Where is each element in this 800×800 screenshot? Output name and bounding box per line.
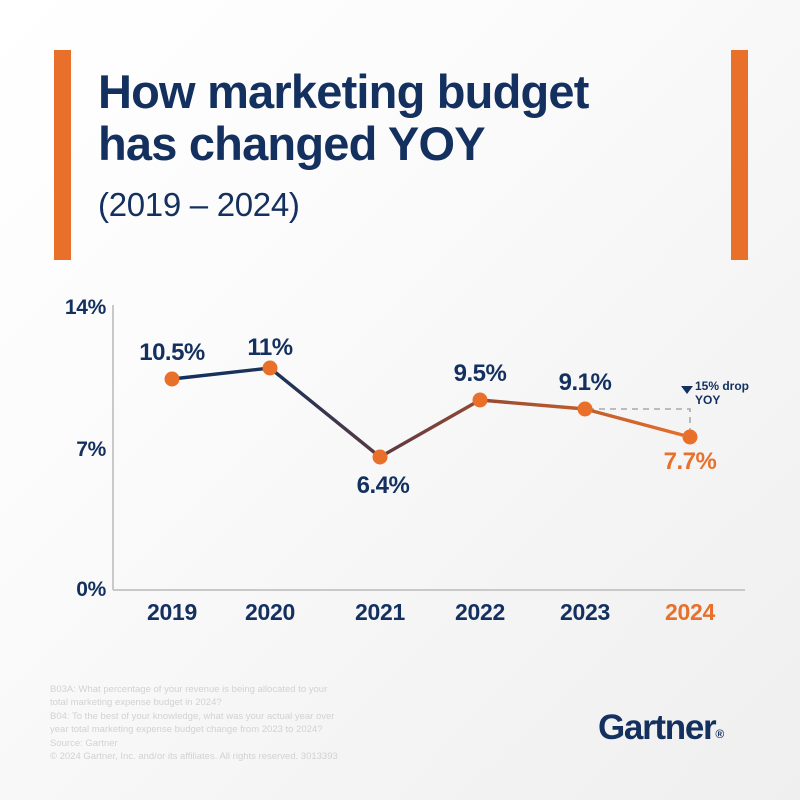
gartner-logo-text: Gartner xyxy=(598,708,715,747)
value-label-2021: 6.4% xyxy=(308,472,458,500)
data-point-2023 xyxy=(578,402,593,417)
footnotes: B03A: What percentage of your revenue is… xyxy=(50,683,380,764)
infographic-canvas: How marketing budget has changed YOY (20… xyxy=(0,0,800,800)
drop-annotation-line-1: 15% drop xyxy=(695,379,765,393)
value-label-2020: 11% xyxy=(195,334,345,362)
data-point-2022 xyxy=(473,393,488,408)
data-point-2021 xyxy=(373,450,388,465)
drop-annotation-line-2: YOY xyxy=(695,393,765,407)
drop-annotation: 15% drop YOY xyxy=(695,379,765,407)
copyright-line: © 2024 Gartner, Inc. and/or its affiliat… xyxy=(50,750,380,763)
registered-trademark-icon: ® xyxy=(715,727,724,741)
value-label-2024: 7.7% xyxy=(615,448,765,476)
x-tick-2024: 2024 xyxy=(630,599,750,626)
chart-svg xyxy=(0,0,800,800)
x-tick-2023: 2023 xyxy=(525,599,645,626)
gartner-logo: Gartner® xyxy=(598,708,724,748)
x-tick-2022: 2022 xyxy=(420,599,540,626)
data-point-2024 xyxy=(683,430,698,445)
y-tick-14: 14% xyxy=(65,296,106,320)
source-line: Source: Gartner xyxy=(50,737,380,750)
y-tick-0: 0% xyxy=(76,578,106,602)
line-chart: 14% 7% 0% 2019 2020 2021 2022 2023 2024 … xyxy=(0,0,800,800)
y-axis-labels: 14% 7% 0% xyxy=(48,0,106,800)
value-label-2023: 9.1% xyxy=(510,369,660,397)
y-tick-7: 7% xyxy=(76,438,106,462)
footnote-b04: B04: To the best of your knowledge, what… xyxy=(50,710,380,737)
data-point-2019 xyxy=(165,372,180,387)
footnote-b03a: B03A: What percentage of your revenue is… xyxy=(50,683,380,710)
triangle-down-icon xyxy=(681,386,693,394)
x-tick-2020: 2020 xyxy=(210,599,330,626)
data-point-2020 xyxy=(263,361,278,376)
